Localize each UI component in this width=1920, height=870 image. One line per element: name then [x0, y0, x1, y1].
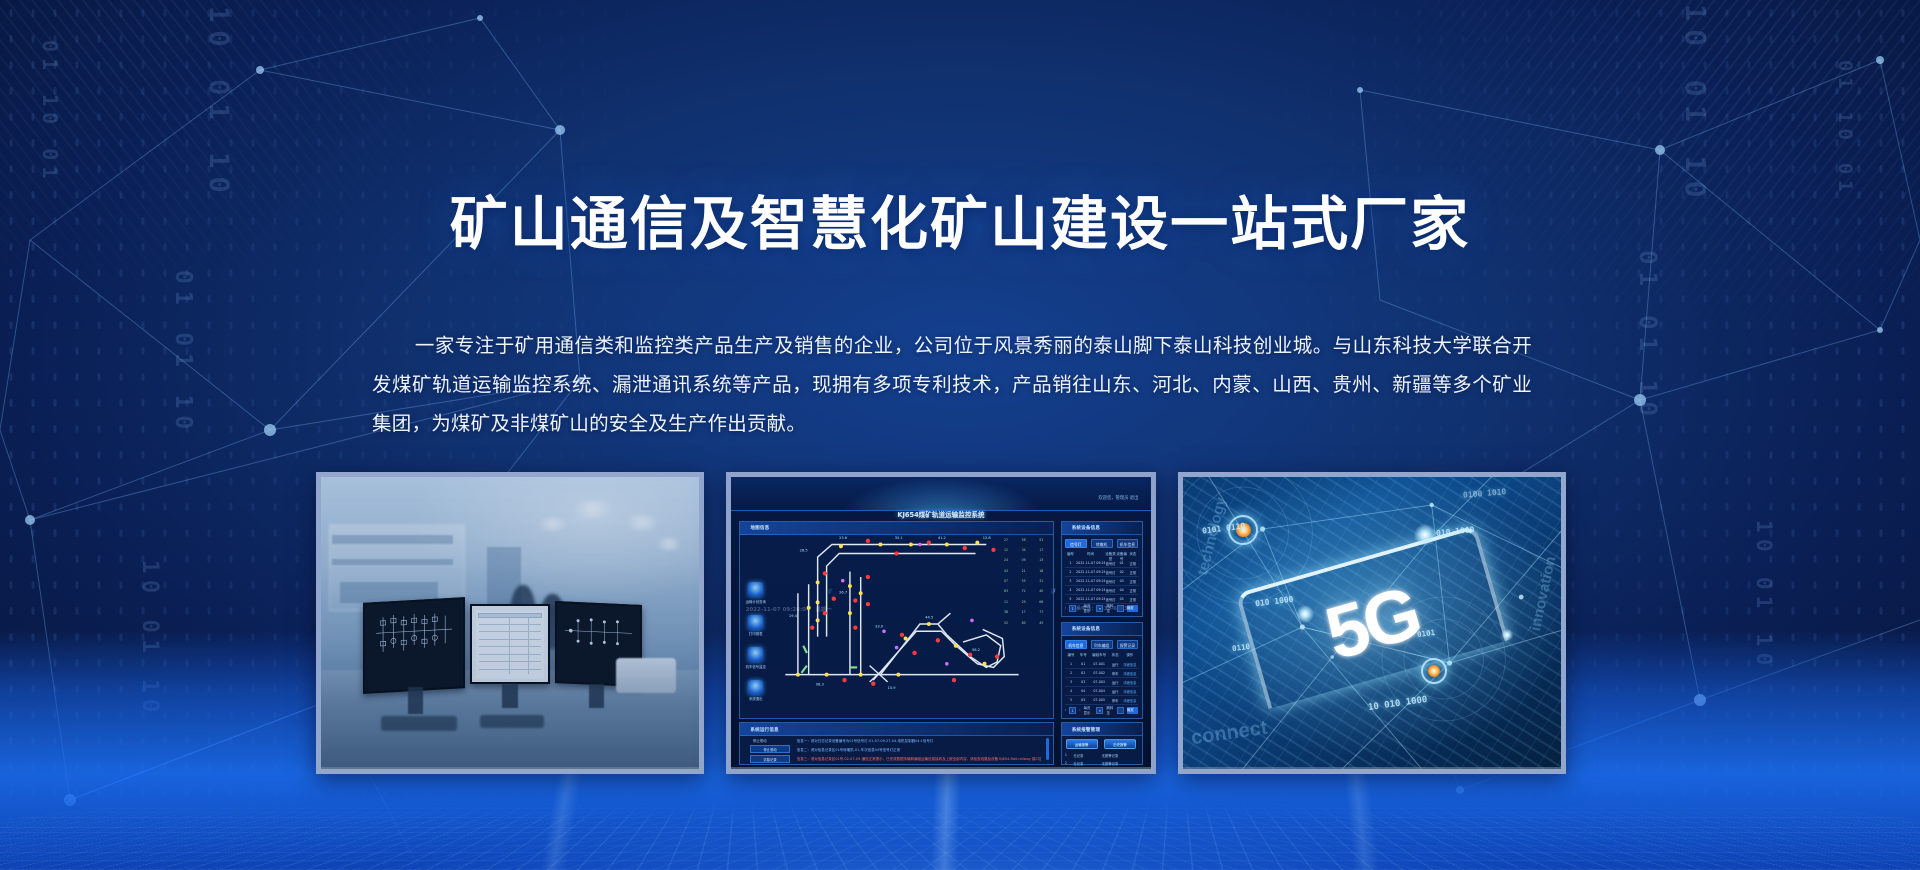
table-row[interactable]: 12022-11-07 09:28:29 信号灯01正常 [1065, 561, 1139, 568]
banner-content: 矿山通信及智慧化矿山建设一站式厂家 一家专注于矿用通信类和监控类产品生产及销售的… [0, 0, 1920, 870]
svg-text:08.3: 08.3 [816, 682, 824, 686]
dot-grid-cell: 12 [1000, 548, 1012, 555]
pager-size-label: 每页显示 [1084, 603, 1094, 613]
dot-grid-cell: 55 [1018, 579, 1030, 586]
svg-text:12.8: 12.8 [983, 536, 992, 540]
scada-side-toolbar[interactable]: 运输计划查询 打印报表 机车信号监控 系统退出 [737, 582, 775, 712]
dot-grid-cell: 31 [1035, 579, 1047, 586]
table-row[interactable]: 404 07-004运行 详细信息 [1065, 689, 1139, 696]
page-title: 矿山通信及智慧化矿山建设一站式厂家 [0, 196, 1920, 254]
side-button-label: 打印报表 [737, 631, 775, 636]
scada-header-bar [731, 477, 1151, 511]
dot-grid-cell: 38 [1000, 610, 1012, 617]
svg-text:58.2: 58.2 [972, 648, 980, 652]
side-button-0[interactable]: 运输计划查询 [737, 582, 775, 604]
scada-map-panel[interactable]: 地图信息 [739, 521, 1054, 720]
rail-network-map: 28.523.635.1 41.212.819.4 26.733.044.5 5… [762, 530, 1031, 711]
svg-text:35.1: 35.1 [895, 536, 903, 540]
scada-system-title: KJ654煤矿轨道运输监控系统 [731, 509, 1151, 519]
alarm-row-0: 1 无记录 无报警记录 [1065, 753, 1139, 760]
scada-run-log-panel[interactable]: 系统运行信息 停止滚动 停止滚动 清除记录 信息一：请对日志记录设备编号为01号… [739, 722, 1054, 764]
list-pager[interactable]: ‹ 1 › 每页显示 ▾ 跳转至 确定 [1065, 706, 1139, 714]
col-header: 编组车号 [1089, 653, 1109, 660]
log-button-1[interactable]: 清除记录 [750, 755, 791, 763]
list-table-header: 编号 车号 编组车号 状态 操作 [1065, 653, 1139, 660]
side-button-label: 运输计划查询 [737, 599, 775, 604]
pager-goto-input[interactable] [1117, 707, 1124, 714]
dot-grid-cell: 58 [1018, 538, 1030, 545]
table-row[interactable]: 303 07-003运行 详细信息 [1065, 680, 1139, 687]
table-row[interactable]: 22022-11-07 09:28:29 信号灯02正常 [1065, 570, 1139, 577]
dot-grid-cell: 13 [1035, 558, 1047, 565]
dot-grid-cell: 27 [1000, 538, 1012, 545]
exit-icon [748, 680, 763, 695]
light-spark-1 [1414, 524, 1436, 546]
scada-device-list-panel[interactable]: 系统设备信息 机车信息 列车编组 报警记录 编号 车号 编组车号 状态 操作 [1061, 622, 1143, 720]
dot-grid-cell: 43 [1000, 569, 1012, 576]
dot-grid-cell: 09 [1018, 558, 1030, 565]
five-g-technology-graphic: 5G 0101 0110 010 1000 010 1000 0101 0110… [1183, 477, 1561, 769]
svg-text:28.5: 28.5 [800, 548, 808, 552]
dot-grid-cell: 63 [1000, 589, 1012, 596]
page-description: 一家专注于矿用通信类和监控类产品生产及销售的企业，公司位于风景秀丽的泰山脚下泰山… [372, 327, 1532, 444]
log-panel-title: 系统运行信息 [740, 723, 1053, 736]
side-button-1[interactable]: 打印报表 [737, 615, 775, 637]
scada-system-screenshot: KJ654煤矿轨道运输监控系统 2022-11-07 09:28:04 星期一 … [731, 477, 1151, 769]
pager-page[interactable]: 1 [1069, 605, 1076, 612]
frame-base-line [731, 767, 1151, 770]
svg-text:15.9: 15.9 [888, 686, 897, 690]
col-header: 状态 [1109, 653, 1121, 660]
image-gallery: KJ654煤矿轨道运输监控系统 2022-11-07 09:28:04 星期一 … [0, 472, 1920, 774]
dot-grid-cell: 72 [1018, 589, 1030, 596]
device-pager[interactable]: ‹ 1 › 每页显示 ▾ 跳转至 确定 [1065, 604, 1139, 612]
log-button-0[interactable]: 停止滚动 [750, 745, 791, 753]
col-header: 设备编号 [1116, 552, 1127, 559]
dot-grid-cell: 40 [1035, 589, 1047, 596]
col-header: 编号 [1065, 653, 1077, 660]
dot-grid-cell: 66 [1035, 600, 1047, 607]
pager-prev[interactable]: ‹ [1065, 708, 1066, 712]
dot-grid-cell: 18 [1035, 569, 1047, 576]
device-tabs[interactable]: 信号灯 转辙机 机车信息 [1065, 539, 1139, 548]
dot-grid-cell: 17 [1035, 548, 1047, 555]
table-row[interactable]: 101 07-001运行 详细信息 [1065, 662, 1139, 669]
table-row[interactable]: 52022-11-07 09:28:29 信号灯05正常 [1065, 597, 1139, 604]
gallery-item-5g-graphic[interactable]: 5G 0101 0110 010 1000 010 1000 0101 0110… [1178, 472, 1566, 774]
dot-grid-cell: 45 [1035, 621, 1047, 628]
dot-grid-cell: 07 [1000, 579, 1012, 586]
pager-go-button[interactable]: 确定 [1127, 707, 1139, 714]
svg-text:41.2: 41.2 [938, 536, 946, 540]
frame-base-line [1183, 767, 1561, 770]
device-tab-2[interactable]: 机车信息 [1117, 539, 1139, 548]
report-icon [748, 582, 763, 597]
list-panel-title: 系统设备信息 [1062, 623, 1142, 636]
scada-device-status-panel[interactable]: 系统设备信息 信号灯 转辙机 机车信息 编号 时间 设备类型 设备编号 状态 [1061, 521, 1143, 617]
alarm-panel-title: 系统报警管理 [1062, 723, 1142, 736]
log-row-0: 信息一：请对日志记录设备编号为01号信号灯-01-07-09-27-04-电机控… [797, 739, 1041, 747]
pager-size-select[interactable]: ▾ [1096, 707, 1103, 714]
dot-grid-cell: 21 [1018, 569, 1030, 576]
col-header: 操作 [1121, 653, 1138, 660]
side-button-label: 系统退出 [737, 696, 775, 701]
log-row-1: 信息二：请对信息记录区01号转辙机-01-车次信息04号信号灯正常 [797, 748, 1041, 756]
side-button-3[interactable]: 系统退出 [737, 680, 775, 702]
pager-goto-label: 跳转至 [1106, 603, 1113, 613]
log-scrollbar[interactable] [1046, 738, 1049, 759]
svg-text:19.4: 19.4 [789, 613, 798, 617]
dot-grid-cell: 11 [1000, 600, 1012, 607]
pager-size-label: 每页显示 [1084, 705, 1094, 715]
log-stop-label: 停止滚动 [753, 738, 767, 743]
side-button-2[interactable]: 机车信号监控 [737, 647, 775, 669]
svg-text:23.6: 23.6 [839, 536, 848, 540]
side-button-label: 机车信号监控 [737, 664, 775, 669]
blue-photo-tint [321, 477, 699, 769]
alarm-button-1[interactable]: 历史报警 [1104, 739, 1136, 749]
col-header: 时间 [1076, 552, 1105, 559]
pager-goto-input[interactable] [1117, 605, 1124, 612]
hero-banner: 10 01 10 01 01 10 10 01 10 01 10 01 10 0… [0, 0, 1920, 870]
pager-next[interactable]: › [1079, 606, 1080, 610]
table-row[interactable]: 42022-11-07 09:28:29 信号灯04正常 [1065, 588, 1139, 595]
pager-goto-label: 跳转至 [1106, 705, 1113, 715]
svg-text:26.7: 26.7 [839, 590, 847, 594]
alarm-button-0[interactable]: 运输报警 [1066, 739, 1098, 749]
scada-alarm-panel[interactable]: 系统报警管理 运输报警 历史报警 1 无记录 无报警记录 2 无记录 无报警记录 [1061, 722, 1143, 764]
dot-grid-cell: 29 [1018, 600, 1030, 607]
light-spark-3 [1501, 629, 1513, 641]
scada-user[interactable]: 欢迎您，管理员 退出 [1098, 495, 1138, 501]
pager-next[interactable]: › [1079, 708, 1080, 712]
log-row-2: 信息三：请对信息记录区01号-02-07-09-通信正常提示，已完成数据传输和编… [797, 757, 1041, 765]
svg-text:33.0: 33.0 [875, 624, 884, 628]
pager-size-select[interactable]: ▾ [1096, 605, 1103, 612]
signal-icon [748, 647, 763, 662]
list-tab-2[interactable]: 报警记录 [1117, 640, 1139, 649]
frame-base-line [321, 767, 699, 770]
network-node-icon-2 [1421, 658, 1447, 684]
device-tab-1[interactable]: 转辙机 [1091, 539, 1113, 548]
table-row[interactable]: 32022-11-07 09:28:29 信号灯03正常 [1065, 579, 1139, 586]
print-icon [748, 615, 763, 630]
list-tab-1[interactable]: 列车编组 [1091, 640, 1113, 649]
device-status-dot-grid: 27 58 51 12 34 17 24 09 13 43 21 18 [1000, 538, 1047, 628]
gallery-item-control-room[interactable] [316, 472, 704, 774]
pager-prev[interactable]: ‹ [1065, 606, 1066, 610]
gallery-item-scada-system[interactable]: KJ654煤矿轨道运输监控系统 2022-11-07 09:28:04 星期一 … [726, 472, 1156, 774]
header-glow [840, 477, 1042, 510]
list-tab-0[interactable]: 机车信息 [1065, 640, 1087, 649]
col-header: 编号 [1065, 552, 1076, 559]
table-row[interactable]: 202 07-002停车 详细信息 [1065, 671, 1139, 678]
pager-go-button[interactable]: 确定 [1127, 605, 1139, 612]
device-table-header: 编号 时间 设备类型 设备编号 状态 [1065, 552, 1139, 559]
col-header: 设备类型 [1105, 552, 1116, 559]
control-room-photo [321, 477, 699, 769]
dot-grid-cell: 77 [1035, 610, 1047, 617]
dot-grid-cell: 60 [1018, 621, 1030, 628]
list-tabs[interactable]: 机车信息 列车编组 报警记录 [1065, 640, 1139, 649]
device-panel-title: 系统设备信息 [1062, 522, 1142, 535]
pager-page[interactable]: 1 [1069, 707, 1076, 714]
dot-grid-cell: 51 [1035, 538, 1047, 545]
dot-grid-cell: 52 [1000, 621, 1012, 628]
table-row[interactable]: 505 07-005停车 详细信息 [1065, 698, 1139, 705]
dot-grid-cell: 24 [1000, 558, 1012, 565]
svg-text:44.5: 44.5 [926, 615, 934, 619]
dot-grid-cell: 34 [1018, 548, 1030, 555]
dot-grid-cell: 17 [1018, 610, 1030, 617]
col-header: 车号 [1077, 653, 1089, 660]
col-header: 状态 [1127, 552, 1138, 559]
device-tab-0[interactable]: 信号灯 [1065, 539, 1087, 548]
